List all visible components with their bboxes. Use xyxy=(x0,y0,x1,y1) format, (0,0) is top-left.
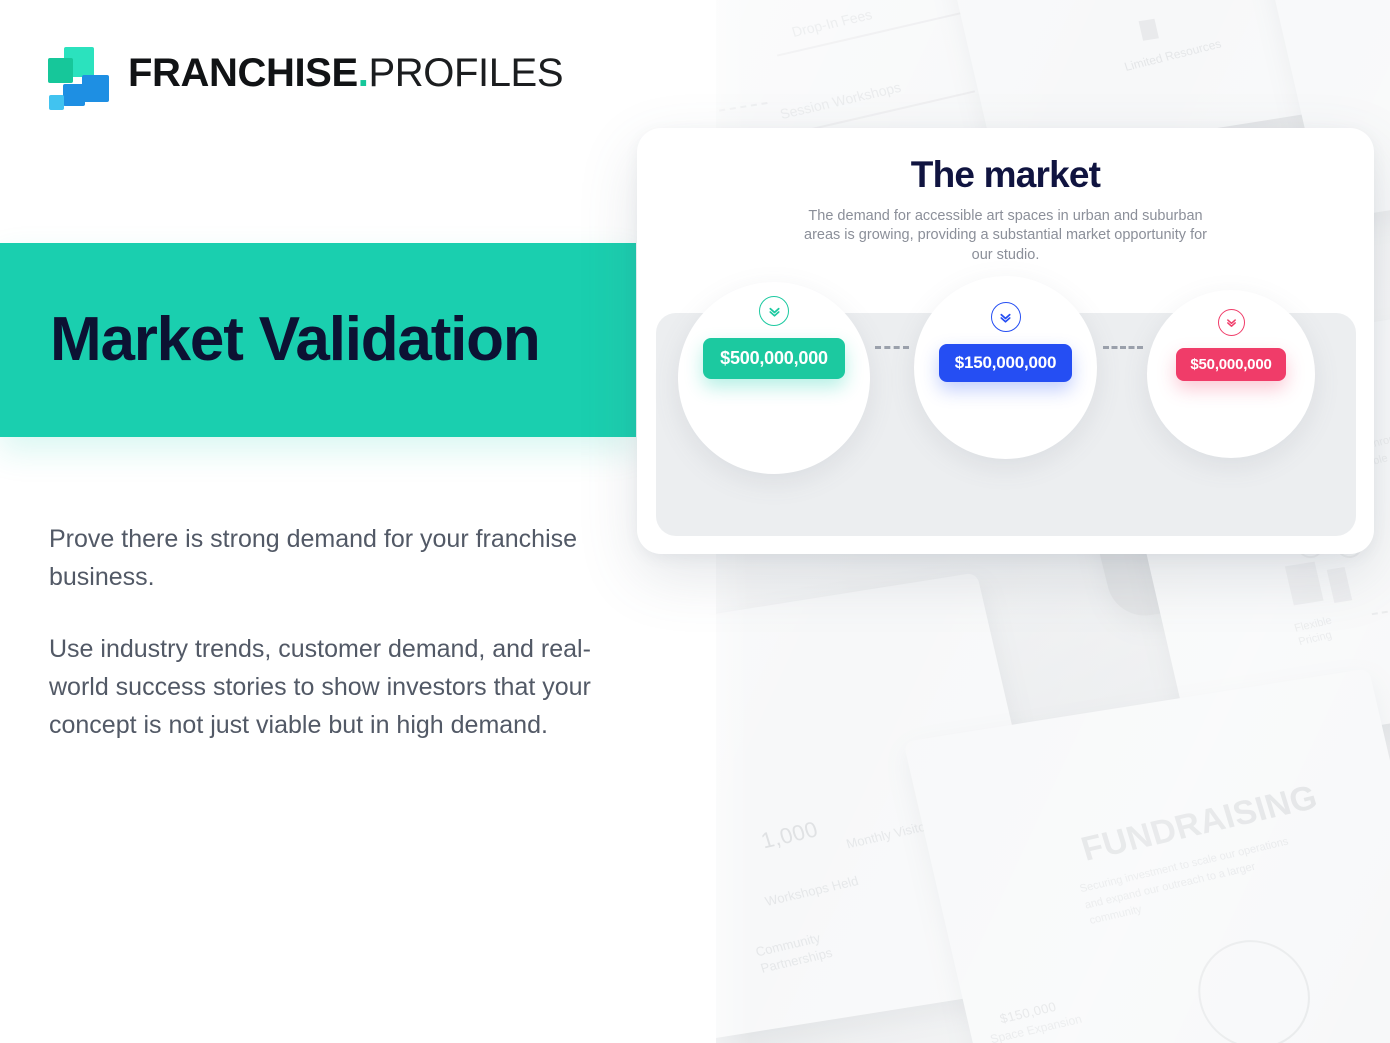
bg-slide-text: Drop-In Fees xyxy=(790,6,874,40)
chevron-double-down-icon xyxy=(1218,309,1245,336)
bg-hourglass-icon xyxy=(1139,19,1159,41)
bg-slide-text: Securing investment to scale our operati… xyxy=(1078,832,1306,929)
bg-slide-text: Community Partnerships xyxy=(754,920,871,977)
bg-slide-text: Flexible Pricing xyxy=(1293,606,1369,649)
tam-value-badge: $500,000,000 xyxy=(703,338,845,379)
bg-slide-title: $150,000 xyxy=(998,999,1058,1026)
bg-slide-text: Limited Resources xyxy=(1123,37,1223,74)
market-funnel: $500,000,000 $150,000,000 xyxy=(637,276,1374,554)
connector-tam-sam xyxy=(875,346,909,349)
market-card-title: The market xyxy=(637,154,1374,196)
bg-slide-text: Monthly Visitors xyxy=(844,816,937,851)
connector-sam-som xyxy=(1103,346,1143,349)
logo-squares-icon xyxy=(48,44,110,102)
bg-bar-icon xyxy=(1285,562,1324,606)
page-title-banner: Market Validation xyxy=(0,243,636,437)
som-node[interactable]: $50,000,000 xyxy=(1147,309,1315,381)
chevron-double-down-icon xyxy=(991,302,1021,332)
bg-slide-traction: 1,000 Monthly Visitors 75 Workshops Held… xyxy=(716,572,1071,1043)
brand-logo[interactable]: FRANCHISE.PROFILES xyxy=(48,44,563,102)
bg-slide-title: 1,000 xyxy=(758,817,821,855)
bg-bar-icon xyxy=(1327,567,1352,603)
market-card: The market The demand for accessible art… xyxy=(637,128,1374,554)
sam-node[interactable]: $150,000,000 xyxy=(914,302,1097,382)
brand-name-dot: . xyxy=(358,51,369,95)
bg-slide-title: 75 xyxy=(716,878,717,903)
bg-slide-title: FUNDRAISING xyxy=(1077,778,1322,869)
page-title: Market Validation xyxy=(50,307,540,372)
brand-wordmark: FRANCHISE.PROFILES xyxy=(128,53,563,93)
som-value-badge: $50,000,000 xyxy=(1176,348,1285,381)
bg-dashed-line xyxy=(716,102,768,115)
chevron-double-down-icon xyxy=(759,296,789,326)
tam-node[interactable]: $500,000,000 xyxy=(678,296,870,379)
brand-name-thin: PROFILES xyxy=(368,51,563,95)
description-paragraph-1: Prove there is strong demand for your fr… xyxy=(49,520,594,596)
bg-dashed-line xyxy=(1372,606,1390,615)
description-block: Prove there is strong demand for your fr… xyxy=(49,520,594,744)
bg-slide-text: Session Workshops xyxy=(778,79,903,122)
market-card-subtitle: The demand for accessible art spaces in … xyxy=(796,207,1216,265)
sam-value-badge: $150,000,000 xyxy=(939,344,1073,382)
description-paragraph-2: Use industry trends, customer demand, an… xyxy=(49,630,594,744)
bg-slide-text: Workshops Held xyxy=(763,873,860,909)
bg-rule xyxy=(777,12,962,57)
brand-name-bold: FRANCHISE xyxy=(128,51,358,95)
bg-slide-text: Space Expansion xyxy=(989,1012,1084,1043)
bg-donut-icon xyxy=(1187,932,1321,1043)
slide-canvas: Drop-In Fees Session Workshops Commissio… xyxy=(0,0,1390,1043)
bg-slide-fundraising: FUNDRAISING Securing investment to scale… xyxy=(903,668,1390,1043)
